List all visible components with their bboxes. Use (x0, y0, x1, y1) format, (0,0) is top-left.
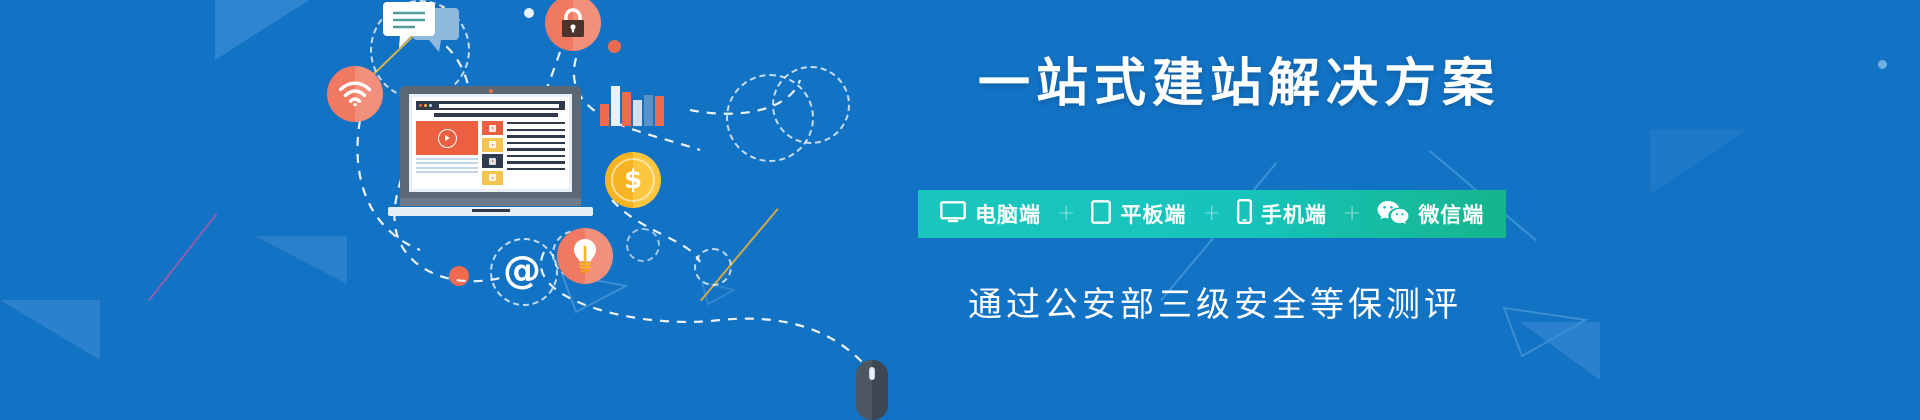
decorative-dot (449, 266, 469, 286)
laptop-illustration (388, 86, 593, 216)
page-content (416, 121, 565, 185)
page-nav-strip (434, 113, 558, 117)
laptop-camera-dot (489, 89, 493, 93)
outline-triangle-icon (1500, 300, 1590, 360)
promo-banner: $ @ (0, 0, 1920, 420)
diagonal-line (148, 213, 217, 301)
smartphone-icon (1237, 199, 1252, 229)
device-item-desktop: 电脑端 (940, 199, 1041, 229)
decorative-dot (1878, 60, 1887, 69)
laptop-screen (409, 94, 572, 192)
coin-dollar-symbol: $ (611, 158, 655, 202)
triangle-shape (255, 236, 347, 284)
device-item-phone: 手机端 (1237, 199, 1327, 229)
video-thumbnail (482, 121, 503, 135)
decorative-dot (608, 40, 621, 53)
video-thumbnail (482, 154, 503, 168)
website-mockup (412, 97, 569, 189)
text-lines (416, 158, 478, 173)
triangle-shape (215, 0, 325, 60)
chat-bubbles-icon (383, 2, 459, 62)
hero-video-block (416, 121, 478, 155)
laptop-hinge (400, 198, 581, 206)
lightbulb-icon (557, 228, 613, 284)
tablet-icon (1091, 200, 1111, 229)
dashed-circle (726, 74, 814, 162)
window-controls (419, 104, 432, 107)
plus-separator: + (1041, 203, 1091, 225)
dashed-circle (694, 248, 732, 286)
device-label-wechat: 微信端 (1418, 199, 1484, 229)
device-support-badge: 电脑端 + 平板端 + 手机端 + (918, 190, 1506, 238)
sidebar-text-column (507, 121, 565, 185)
computer-mouse-icon (850, 360, 894, 420)
device-item-tablet: 平板端 (1091, 199, 1186, 229)
wifi-icon (327, 66, 383, 122)
plus-separator: + (1186, 203, 1236, 225)
decorative-dot (524, 8, 534, 18)
browser-title-bar (416, 101, 565, 110)
content-main-column (416, 121, 478, 185)
browser-address-bar (439, 104, 559, 108)
video-thumbnail (482, 171, 503, 185)
device-label-phone: 手机端 (1261, 199, 1327, 229)
device-label-tablet: 平板端 (1120, 199, 1186, 229)
laptop-base (388, 207, 593, 216)
triangle-shape (0, 300, 100, 360)
laptop-lid (400, 86, 581, 198)
page-subtitle: 通过公安部三级安全等保测评 (968, 288, 1462, 322)
desktop-monitor-icon (940, 201, 966, 228)
coin-dollar-icon: $ (605, 152, 661, 208)
plus-separator: + (1327, 203, 1377, 225)
bar-chart-icon (600, 74, 662, 126)
triangle-shape (1650, 130, 1746, 194)
wechat-icon (1377, 200, 1409, 229)
video-thumbnail (482, 138, 503, 152)
device-item-wechat: 微信端 (1377, 199, 1484, 229)
play-button-icon (438, 129, 457, 148)
at-sign-icon: @ (500, 248, 544, 292)
dashed-circle (626, 228, 660, 262)
device-label-desktop: 电脑端 (975, 199, 1041, 229)
thumbnail-column (482, 121, 503, 185)
page-title: 一站式建站解决方案 (978, 58, 1500, 110)
